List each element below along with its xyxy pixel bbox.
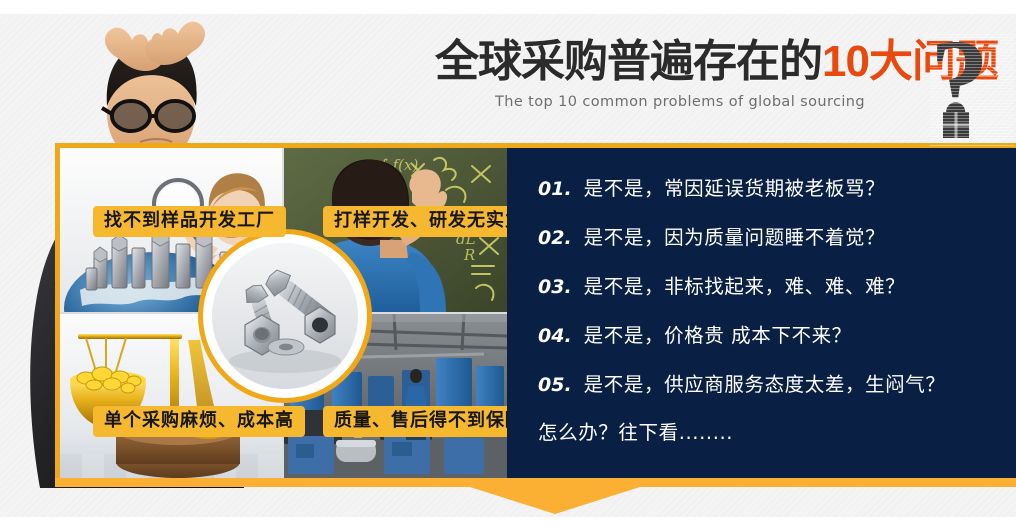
list-item: 03. 是不是，非标找起来，难、难、难？ xyxy=(538,270,905,299)
list-item-number: 03. xyxy=(538,276,572,298)
list-item-number: 01. xyxy=(538,178,572,200)
list-item-text: 是不是，价格贵 成本下不来？ xyxy=(584,319,852,348)
list-item: 05. 是不是，供应商服务态度太差，生闷气？ xyxy=(538,368,945,397)
badge-no-sample-factory: 找不到样品开发工厂 xyxy=(93,206,286,237)
circle-photo-inner xyxy=(212,243,358,389)
list-item-text: 是不是，因为质量问题睡不着觉？ xyxy=(584,221,886,250)
question-mark-dot xyxy=(943,112,969,138)
badge-no-rnd-strength: 打样开发、研发无实力 xyxy=(323,206,507,237)
poster-stage: 全球采购普遍存在的10大问题 ? The top 10 common probl… xyxy=(0,0,1016,531)
list-item-number: 02. xyxy=(538,227,572,249)
list-item-text: 是不是，常因延误货期被老板骂？ xyxy=(584,172,886,201)
list-item-text: 是不是，供应商服务态度太差，生闷气？ xyxy=(584,368,946,397)
svg-text:R: R xyxy=(463,246,475,264)
badge-single-purchase-cost: 单个采购麻烦、成本高 xyxy=(93,406,305,437)
background-bottom-white-strip xyxy=(0,517,1016,531)
question-mark-icon: ? xyxy=(930,34,1014,144)
list-item: 04. 是不是，价格贵 成本下不来？ xyxy=(538,319,852,348)
list-item-number: 05. xyxy=(538,374,572,396)
list-closing-text: 怎么办？往下看........ xyxy=(538,416,733,445)
title-row: 全球采购普遍存在的10大问题 ? xyxy=(430,36,1016,94)
page-title: 全球采购普遍存在的10大问题 xyxy=(435,36,998,88)
photo-collage: ∫ f(x) dL R xyxy=(60,148,507,478)
list-item: 02. 是不是，因为质量问题睡不着觉？ xyxy=(538,221,885,250)
page-title-main: 全球采购普遍存在的 xyxy=(435,37,822,86)
photo-bolts-nuts-closeup xyxy=(203,234,367,398)
page-subtitle: The top 10 common problems of global sou… xyxy=(495,94,865,110)
list-item-text: 是不是，非标找起来，难、难、难？ xyxy=(584,270,906,299)
header: 全球采购普遍存在的10大问题 ? The top 10 common probl… xyxy=(430,36,1016,140)
main-panel: ∫ f(x) dL R xyxy=(55,143,1016,483)
badge-no-quality-guarantee: 质量、售后得不到保障 xyxy=(323,406,507,437)
down-arrow-indicator xyxy=(470,487,640,514)
bottom-orange-bar xyxy=(55,478,1016,487)
list-item-number: 04. xyxy=(538,325,572,347)
problem-list: 01. 是不是，常因延误货期被老板骂？ 02. 是不是，因为质量问题睡不着觉？ … xyxy=(512,148,1016,478)
list-item: 01. 是不是，常因延误货期被老板骂？ xyxy=(538,172,885,201)
